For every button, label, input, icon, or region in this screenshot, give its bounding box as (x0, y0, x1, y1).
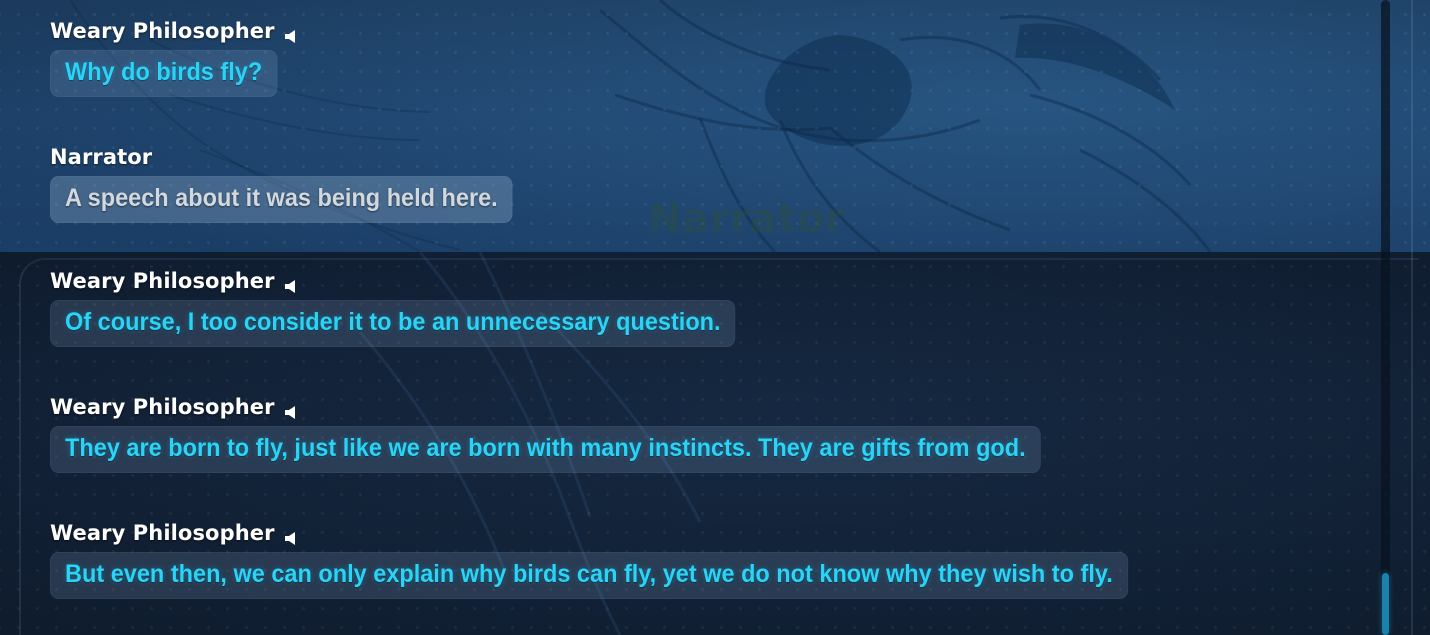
speaker-name: Narrator (50, 145, 152, 169)
speaker-icon[interactable] (284, 275, 300, 290)
dialogue-bubble[interactable]: Of course, I too consider it to be an un… (50, 300, 736, 347)
speaker-name: Weary Philosopher (50, 521, 275, 545)
speaker-row: Weary Philosopher (50, 394, 1104, 420)
scrollbar-thumb[interactable] (1382, 573, 1389, 635)
dialogue-bubble[interactable]: But even then, we can only explain why b… (50, 552, 1128, 599)
speaker-name: Weary Philosopher (50, 269, 275, 293)
speaker-icon[interactable] (284, 527, 300, 542)
log-entry[interactable]: Weary Philosopher They are born to fly, … (50, 394, 1104, 473)
speaker-name: Weary Philosopher (50, 19, 275, 43)
log-entry[interactable]: Narrator A speech about it was being hel… (50, 144, 542, 223)
dialogue-backlog-screen: Narrator Weary Philosopher (0, 0, 1430, 635)
speaker-icon[interactable] (284, 25, 300, 40)
speaker-name: Weary Philosopher (50, 395, 275, 419)
speaker-row: Weary Philosopher (50, 18, 300, 44)
dialogue-bubble[interactable]: Why do birds fly? (50, 50, 277, 97)
speaker-row: Weary Philosopher (50, 520, 1197, 546)
log-entry[interactable]: Weary Philosopher Why do birds fly? (50, 18, 300, 97)
dialogue-bubble[interactable]: A speech about it was being held here. (50, 176, 513, 223)
speaker-row: Narrator (50, 144, 542, 170)
log-entry[interactable]: Weary Philosopher Of course, I too consi… (50, 268, 779, 347)
speaker-icon[interactable] (284, 401, 300, 416)
dialogue-bubble[interactable]: They are born to fly, just like we are b… (50, 426, 1041, 473)
speaker-row: Weary Philosopher (50, 268, 779, 294)
dialogue-log[interactable]: Weary Philosopher Why do birds fly? Narr… (0, 0, 1430, 635)
log-entry[interactable]: Weary Philosopher But even then, we can … (50, 520, 1197, 599)
scrollbar-track[interactable] (1381, 0, 1390, 635)
scrollbar-rail (1411, 0, 1413, 635)
